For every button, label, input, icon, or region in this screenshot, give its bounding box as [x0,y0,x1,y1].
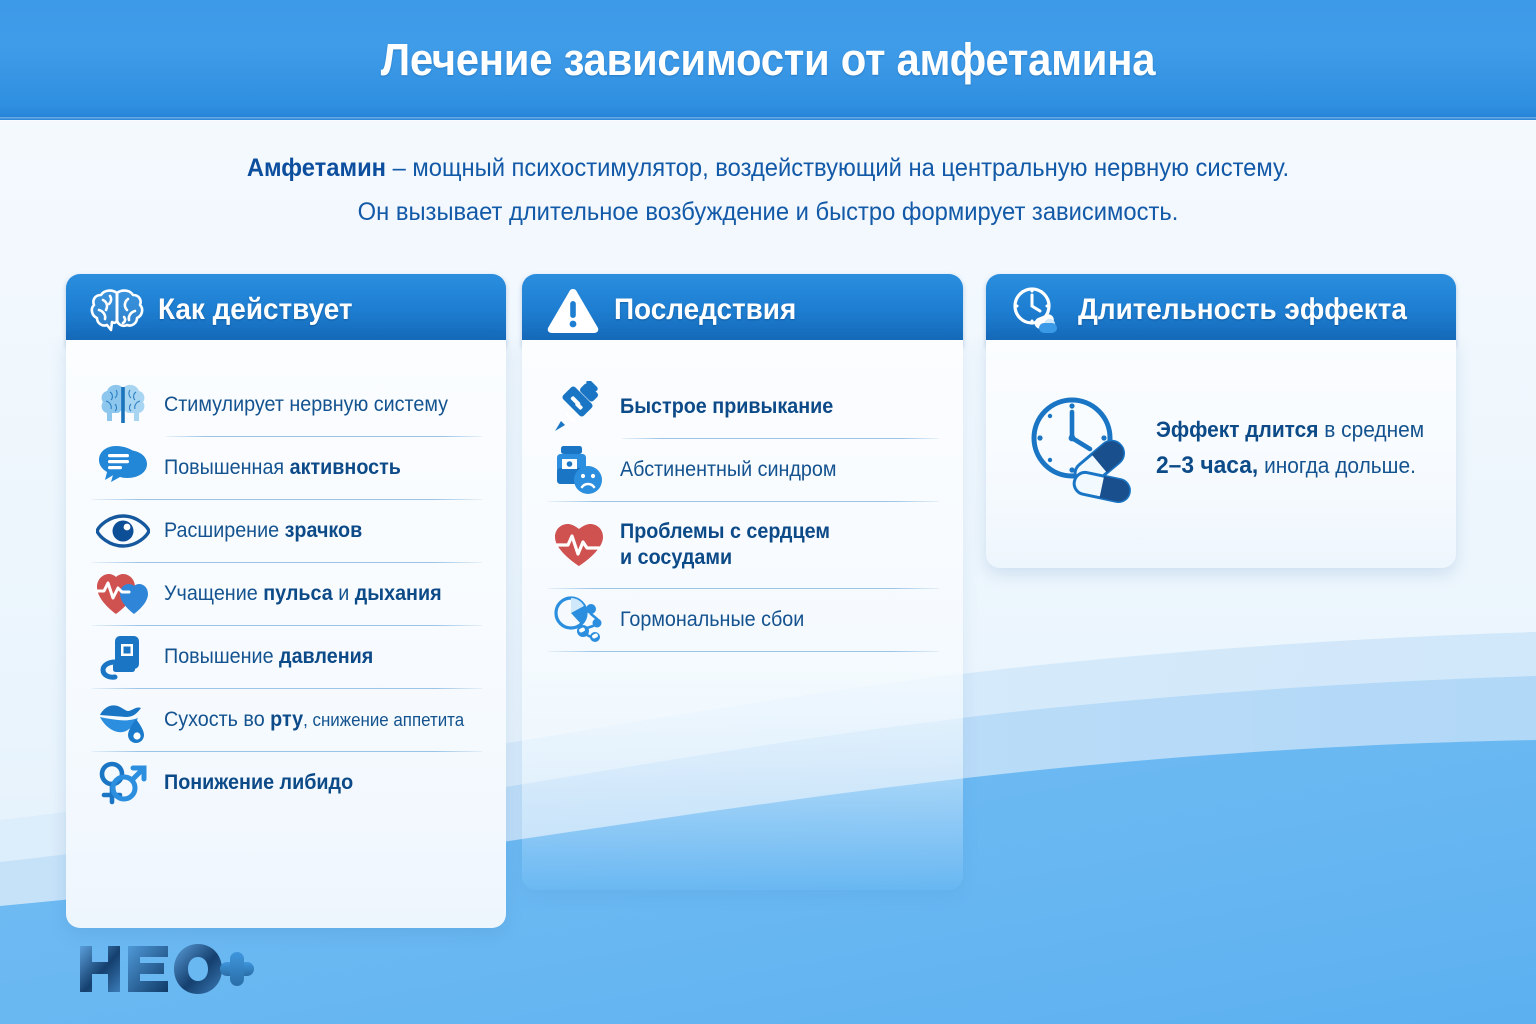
list-item: Повышение давления [66,626,506,688]
intro-line-2: Он вызывает длительное возбуждение и быс… [38,190,1497,234]
brain-icon [88,284,146,336]
list-item-label: Гормональные сбои [620,607,804,633]
list-item-label: Проблемы с сердцеми сосудами [620,519,830,571]
clock-pills-icon [1008,284,1066,336]
list-item: Гормональные сбои [522,589,963,651]
gender-symbols-icon [94,754,152,812]
clock-capsules-icon [1026,392,1140,504]
warning-triangle-icon [544,284,602,336]
list-item: Проблемы с сердцеми сосудами [522,502,963,588]
list-item-label: Расширение зрачков [164,518,362,544]
list-item-label: Абстинентный синдром [620,457,836,483]
effect-duration-text: Эффект длится в среднем 2–3 часа, иногда… [1156,412,1424,484]
card-title-consequences: Последствия [614,293,796,327]
heart-pulse-icon [550,516,608,574]
list-item-label: Понижение либидо [164,770,353,796]
card-header-effect-duration: Длительность эффекта [986,274,1456,346]
list-item-label: Стимулирует нервную систему [164,392,448,418]
list-item: Абстинентный синдром [522,439,963,501]
card-header-consequences: Последствия [522,274,963,346]
list-item-label: Повышение давления [164,644,373,670]
intro-paragraph: Амфетамин – мощный психостимулятор, возд… [38,146,1497,234]
brain-icon [94,376,152,434]
list-item: Быстрое привыкание [522,376,963,438]
list-item: Сухость во рту, снижение аппетита [66,689,506,751]
card-title-effect-duration: Длительность эффекта [1078,293,1407,327]
list-item-label: Быстрое привыкание [620,394,833,420]
effect-duration-feature: Эффект длится в среднем 2–3 часа, иногда… [986,392,1456,504]
card-how-it-works: Как действует [66,274,506,928]
card-body-consequences: Быстрое привыкание [522,340,963,890]
pill-bottle-sad-icon [550,441,608,499]
card-header-how-it-works: Как действует [66,274,506,346]
divider [548,651,939,652]
blood-pressure-icon [94,628,152,686]
double-heart-icon [94,565,152,623]
list-item: Стимулирует нервную систему [66,374,506,436]
list-item: Учащение пульса и дыхания [66,563,506,625]
list-item: Расширение зрачков [66,500,506,562]
eye-icon [94,502,152,560]
intro-line-1: Амфетамин – мощный психостимулятор, возд… [38,146,1497,190]
card-consequences: Последствия [522,274,963,890]
list-item-label: Учащение пульса и дыхания [164,581,442,607]
card-effect-duration: Длительность эффекта [986,274,1456,568]
title-bar: Лечение зависимости от амфетамина [0,0,1536,120]
card-title-how-it-works: Как действует [158,293,353,327]
page-title: Лечение зависимости от амфетамина [54,0,1482,120]
dry-lips-icon [94,691,152,749]
infographic-canvas: Лечение зависимости от амфетамина Амфета… [0,0,1536,1024]
intro-keyword: Амфетамин [247,154,386,182]
hormones-icon [550,591,608,649]
list-item-label: Сухость во рту, снижение аппетита [164,707,464,733]
speech-bubble-icon [94,439,152,497]
list-item: Понижение либидо [66,752,506,814]
list-item: Повышенная активность [66,437,506,499]
list-item-label: Повышенная активность [164,455,401,481]
card-body-effect-duration: Эффект длится в среднем 2–3 часа, иногда… [986,340,1456,568]
syringe-icon [550,378,608,436]
card-body-how-it-works: Стимулирует нервную систему [66,340,506,928]
logo-neo-plus: НЕО+ [76,940,256,1000]
intro-line-1-rest: – мощный психостимулятор, воздействующий… [386,154,1289,182]
